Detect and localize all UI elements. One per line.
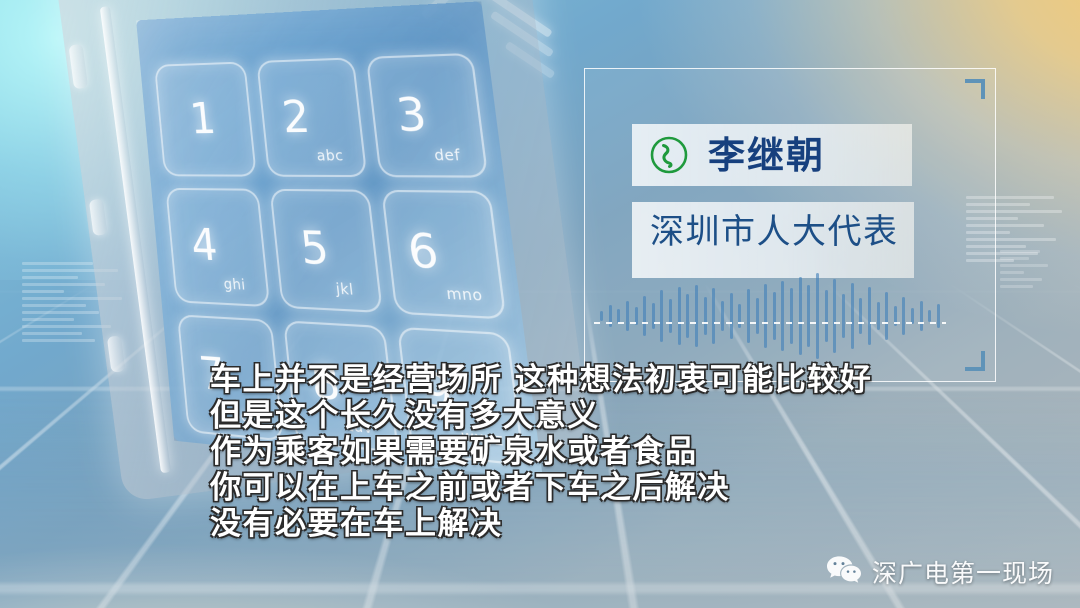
corner-bracket-icon	[965, 79, 985, 99]
waveform-bar	[790, 288, 793, 344]
waveform-bar	[678, 287, 681, 345]
background-data-line	[1000, 271, 1024, 274]
subtitle-block: 车上并不是经营场所 这种想法初衷可能比较好但是这个长久没有多大意义作为乘客如果需…	[210, 362, 950, 542]
waveform-bar	[799, 277, 802, 355]
dial-key-digit: 5	[298, 226, 331, 273]
phone-call-icon	[648, 134, 690, 176]
wechat-icon	[826, 555, 862, 589]
waveform-bar	[842, 294, 845, 338]
waveform-bar	[652, 303, 655, 329]
waveform-bar	[859, 298, 862, 334]
waveform-bar	[695, 285, 698, 347]
dial-key-digit: 6	[405, 228, 441, 277]
waveform-bar	[600, 311, 603, 321]
background-data-line	[22, 339, 95, 342]
audio-level-waveform	[600, 286, 940, 346]
waveform-bar	[764, 284, 767, 348]
dial-key-letters: mno	[445, 286, 483, 305]
dial-key-letters: def	[433, 147, 461, 164]
dial-key-2: 2abc	[256, 57, 368, 177]
waveform-bar	[747, 289, 750, 343]
waveform-bar	[902, 297, 905, 335]
waveform-axis	[594, 322, 946, 324]
subtitle-line: 车上并不是经营场所 这种想法初衷可能比较好	[210, 362, 950, 398]
background-data-line	[22, 325, 111, 328]
waveform-bar	[833, 279, 836, 353]
guest-name-row: 李继朝	[648, 124, 916, 186]
dial-key-letters: ghi	[223, 277, 246, 294]
waveform-bar	[712, 288, 715, 344]
corner-bracket-icon	[965, 351, 985, 371]
waveform-bar	[617, 309, 620, 323]
waveform-bar	[868, 287, 871, 345]
background-data-line	[22, 262, 93, 265]
waveform-bar	[825, 290, 828, 342]
dial-key-letters: abc	[316, 148, 344, 165]
dial-key-5: 5jkl	[269, 189, 383, 313]
dial-key-letters: jkl	[335, 281, 355, 299]
waveform-bar	[877, 302, 880, 330]
waveform-bar	[626, 301, 629, 331]
subtitle-line: 作为乘客如果需要矿泉水或者食品	[210, 434, 950, 470]
watermark-label: 深广电第一现场	[872, 554, 1054, 590]
subtitle-line: 但是这个长久没有多大意义	[210, 398, 950, 434]
background-data-line	[1000, 257, 1029, 260]
background-data-line	[1000, 250, 1040, 253]
waveform-bar	[773, 292, 776, 340]
dial-key-digit: 1	[188, 98, 218, 141]
waveform-bar	[885, 292, 888, 340]
waveform-bar	[738, 304, 741, 328]
waveform-bar	[721, 301, 724, 331]
waveform-bar	[643, 296, 646, 336]
waveform-bar	[660, 290, 663, 342]
dial-key-digit: 2	[280, 95, 312, 140]
waveform-bar	[756, 298, 759, 334]
subtitle-line: 没有必要在车上解决	[210, 506, 950, 542]
waveform-bar	[937, 304, 940, 328]
waveform-bar	[781, 281, 784, 351]
channel-watermark: 深广电第一现场	[826, 554, 1054, 590]
background-data-line	[1000, 264, 1048, 267]
background-data-line	[1000, 278, 1042, 281]
waveform-bar	[730, 293, 733, 339]
guest-title: 深圳市人大代表	[650, 214, 920, 251]
dial-key-3: 3def	[366, 53, 488, 178]
waveform-bar	[920, 301, 923, 331]
waveform-bar	[851, 283, 854, 349]
background-data-line	[22, 276, 78, 279]
dial-key-digit: 3	[394, 93, 429, 140]
background-data-line	[22, 290, 64, 293]
dial-key-6: 6mno	[382, 190, 507, 320]
waveform-bar	[928, 310, 931, 322]
background-data-line	[22, 332, 82, 335]
background-data-line	[22, 318, 74, 321]
background-data-line	[22, 304, 86, 307]
waveform-bar	[816, 273, 819, 359]
waveform-bar	[686, 294, 689, 338]
background-data-line	[22, 311, 99, 314]
waveform-bar	[704, 297, 707, 335]
guest-name: 李继朝	[708, 137, 825, 174]
background-data-line	[1000, 285, 1033, 288]
waveform-bar	[669, 299, 672, 333]
waveform-bar	[807, 285, 810, 347]
broadcast-screen: 12abc3def4ghi5jkl6mno7pqrs8tuv9wxyz 李继朝 …	[0, 0, 1080, 608]
background-data-text-right-secondary	[1000, 250, 1072, 292]
background-data-line	[22, 283, 105, 286]
dial-key-1: 1	[154, 61, 256, 176]
dial-key-4: 4ghi	[165, 188, 269, 307]
dial-key-digit: 4	[190, 224, 220, 269]
subtitle-line: 你可以在上车之前或者下车之后解决	[210, 470, 950, 506]
